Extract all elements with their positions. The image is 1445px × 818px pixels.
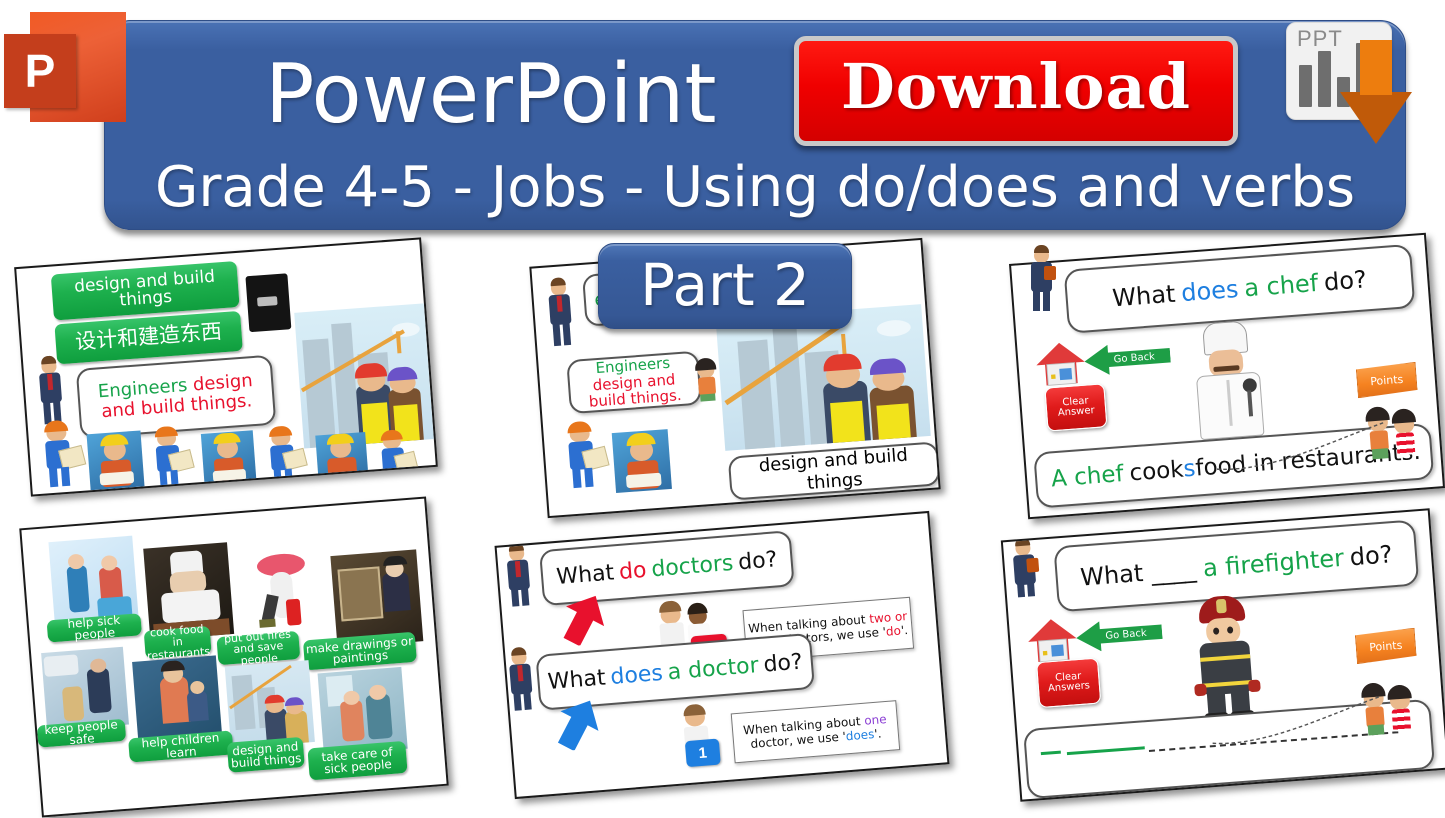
- chef-q-subject: a chef: [1243, 269, 1319, 302]
- clear-answer-button[interactable]: Clear Answer: [1044, 383, 1107, 431]
- job-label-3: make drawings or paintings: [303, 632, 417, 671]
- slide-engineers-vocabulary[interactable]: design and build things 设计和建造东西: [14, 237, 438, 496]
- doctor-note-2: When talking about one doctor, we use 'd…: [731, 700, 900, 763]
- ppt-label: PPT: [1297, 26, 1343, 52]
- ff-q-blank: ____: [1150, 555, 1196, 586]
- ff-q-tail: do?: [1349, 540, 1394, 571]
- page-subtitle: Grade 4-5 - Jobs - Using do/does and ver…: [105, 157, 1405, 219]
- ppt-bar-2: [1318, 51, 1331, 107]
- q1-what: What: [555, 560, 615, 590]
- q1-subject: doctors: [650, 550, 734, 582]
- points-button[interactable]: Points: [1356, 362, 1418, 398]
- chef-answer-subject: A chef: [1050, 461, 1124, 492]
- job-label-0: help sick people: [47, 613, 142, 642]
- download-button-label: Download: [799, 41, 1233, 141]
- red-arrow-icon: [559, 591, 609, 647]
- powerpoint-logo-letter: P: [4, 34, 76, 108]
- go-back-button-2[interactable]: Go Back: [1075, 617, 1163, 653]
- answer-verb-2: design and build things.: [588, 370, 682, 411]
- vocab-pill-chinese: 设计和建造东西: [54, 311, 242, 365]
- job-label-4: keep people safe: [37, 719, 126, 748]
- ppt-bar-1: [1299, 65, 1312, 107]
- child-figure: [691, 359, 722, 409]
- q2-subject: a doctor: [667, 653, 760, 685]
- chef-figure: [1180, 319, 1276, 441]
- job-photo-6: [225, 660, 315, 748]
- chef-q-tail: do?: [1323, 265, 1368, 296]
- q2-what: What: [547, 665, 607, 695]
- powerpoint-logo-badge: P: [4, 34, 76, 108]
- download-arrow-icon: [1338, 40, 1414, 146]
- worker-photo-1: [87, 430, 145, 490]
- worker-photo-2: [201, 430, 257, 486]
- slide-firefighter-question[interactable]: What ____ a firefighter do? Go Back Clea…: [1001, 508, 1445, 802]
- part-badge: Part 2: [598, 243, 852, 329]
- blue-arrow-icon: [553, 696, 603, 752]
- presenter-figure-4: [503, 645, 538, 711]
- job-label-6: design and build things: [227, 737, 305, 773]
- presenter-figure-6: [1026, 244, 1056, 312]
- chef-q-what: What: [1111, 280, 1176, 313]
- presenter-figure-5: [1006, 530, 1041, 596]
- go-back-button[interactable]: Go Back: [1083, 340, 1171, 376]
- download-button[interactable]: Download: [794, 36, 1238, 146]
- ff-q-what: What: [1079, 559, 1144, 592]
- ppt-download-badge: PPT: [1286, 18, 1414, 148]
- job-label-7: take care of sick people: [307, 741, 407, 781]
- engineer-answer-bubble-2: Engineers design and build things.: [566, 351, 702, 415]
- worker-figure-4: [373, 432, 421, 487]
- slide-chef-question[interactable]: What does a chef do? Go Back Clear Answe…: [1009, 233, 1445, 520]
- slide-doctors-do-does[interactable]: What do doctors do? 2+ When talking abou…: [495, 511, 950, 799]
- job-photo-5: [132, 655, 222, 741]
- job-label-1: cook food in restaurants: [144, 626, 212, 659]
- clear-answers-button[interactable]: Clear Answers: [1036, 658, 1101, 709]
- worker-figure-3: [261, 428, 311, 487]
- q1-aux: do: [618, 557, 647, 584]
- construction-scene: [294, 303, 434, 448]
- q1-tail: do?: [737, 547, 778, 575]
- page-title: PowerPoint: [265, 43, 825, 147]
- worker-figure-1: [36, 423, 86, 488]
- points-button-2[interactable]: Points: [1355, 628, 1417, 664]
- engineer-caption: design and build things: [728, 441, 941, 500]
- job-label-2: put out fires and save people: [216, 631, 300, 665]
- home-icon[interactable]: [1033, 339, 1088, 391]
- worker-figure-2: [147, 429, 197, 490]
- worker-photo-4: [612, 429, 672, 493]
- black-card-icon: [245, 273, 291, 332]
- engineer-answer-bubble: Engineers design and build things.: [76, 355, 277, 439]
- slide-jobs-picture-grid[interactable]: help sick people cook food in restaurant…: [19, 496, 448, 817]
- vocab-pill-english: design and build things: [51, 261, 240, 320]
- badge-one: 1: [685, 739, 721, 768]
- q2-tail: do?: [763, 649, 804, 677]
- presenter-figure-3: [500, 541, 535, 607]
- worker-photo-3: [315, 432, 368, 480]
- presenter-figure: [33, 358, 68, 426]
- slide-preview-stage: P PowerPoint Grade 4-5 - Jobs - Using do…: [0, 0, 1445, 814]
- worker-figure-5: [559, 424, 609, 489]
- ff-q-subject: a firefighter: [1202, 544, 1345, 583]
- part-badge-label: Part 2: [599, 244, 851, 328]
- presenter-figure-2: [542, 280, 577, 348]
- chef-answer-verb: cook: [1129, 457, 1185, 487]
- powerpoint-logo: P: [4, 8, 126, 126]
- q2-aux: does: [609, 660, 663, 689]
- chef-q-aux: does: [1180, 275, 1239, 307]
